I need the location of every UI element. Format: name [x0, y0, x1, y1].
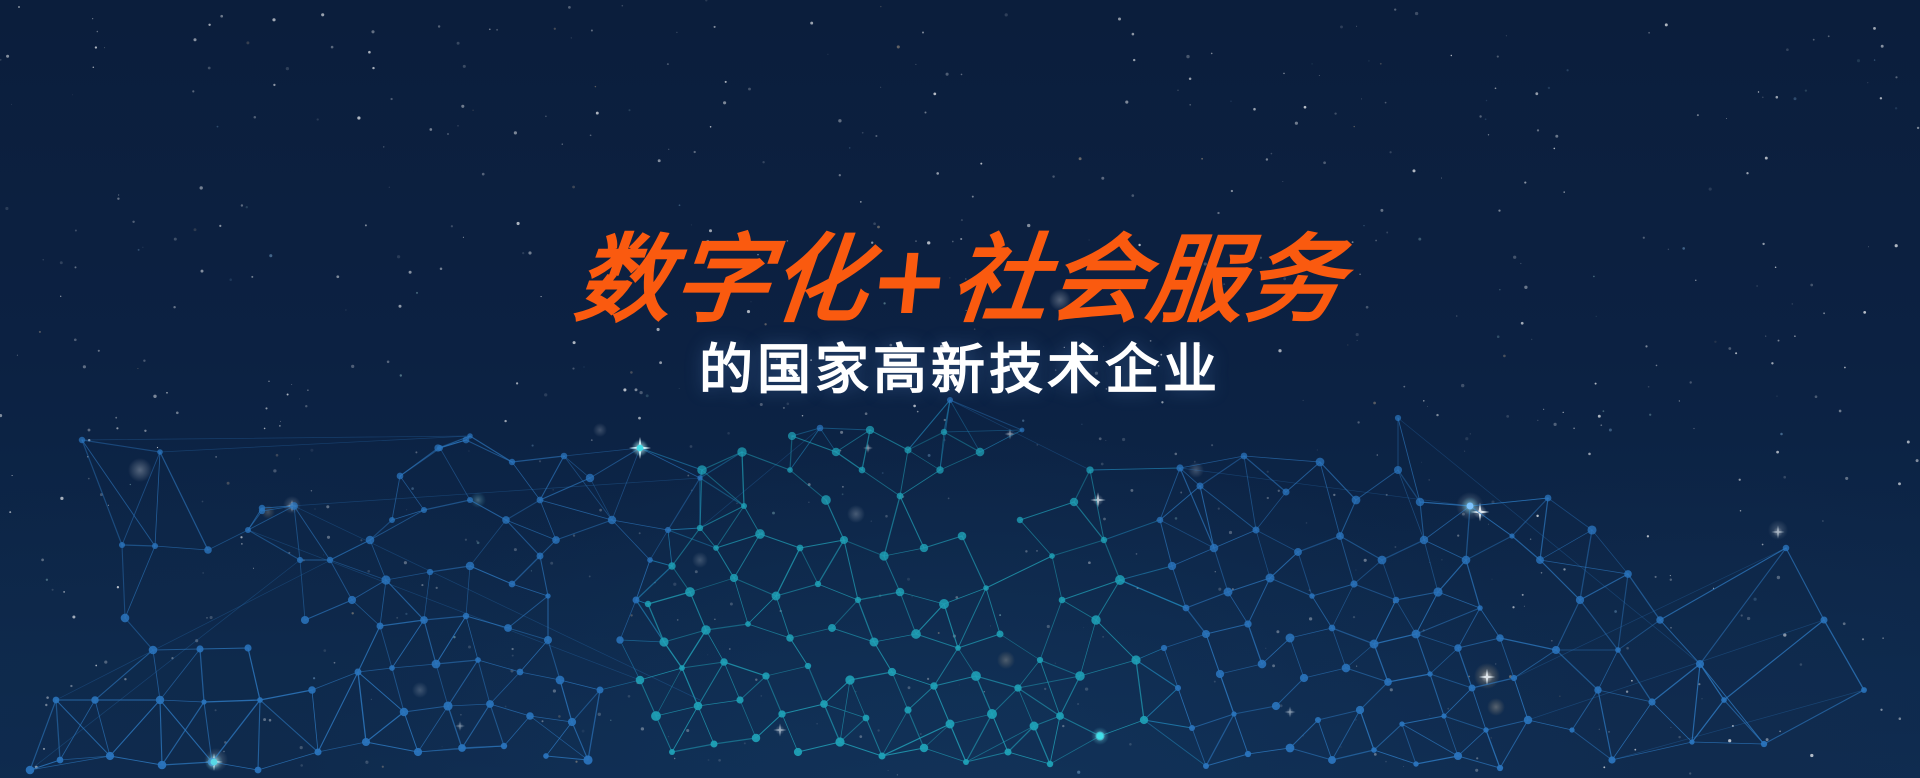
banner-hero: 数字化+社会服务 的国家高新技术企业: [0, 0, 1920, 778]
network-mesh-graphic: [0, 0, 1920, 778]
